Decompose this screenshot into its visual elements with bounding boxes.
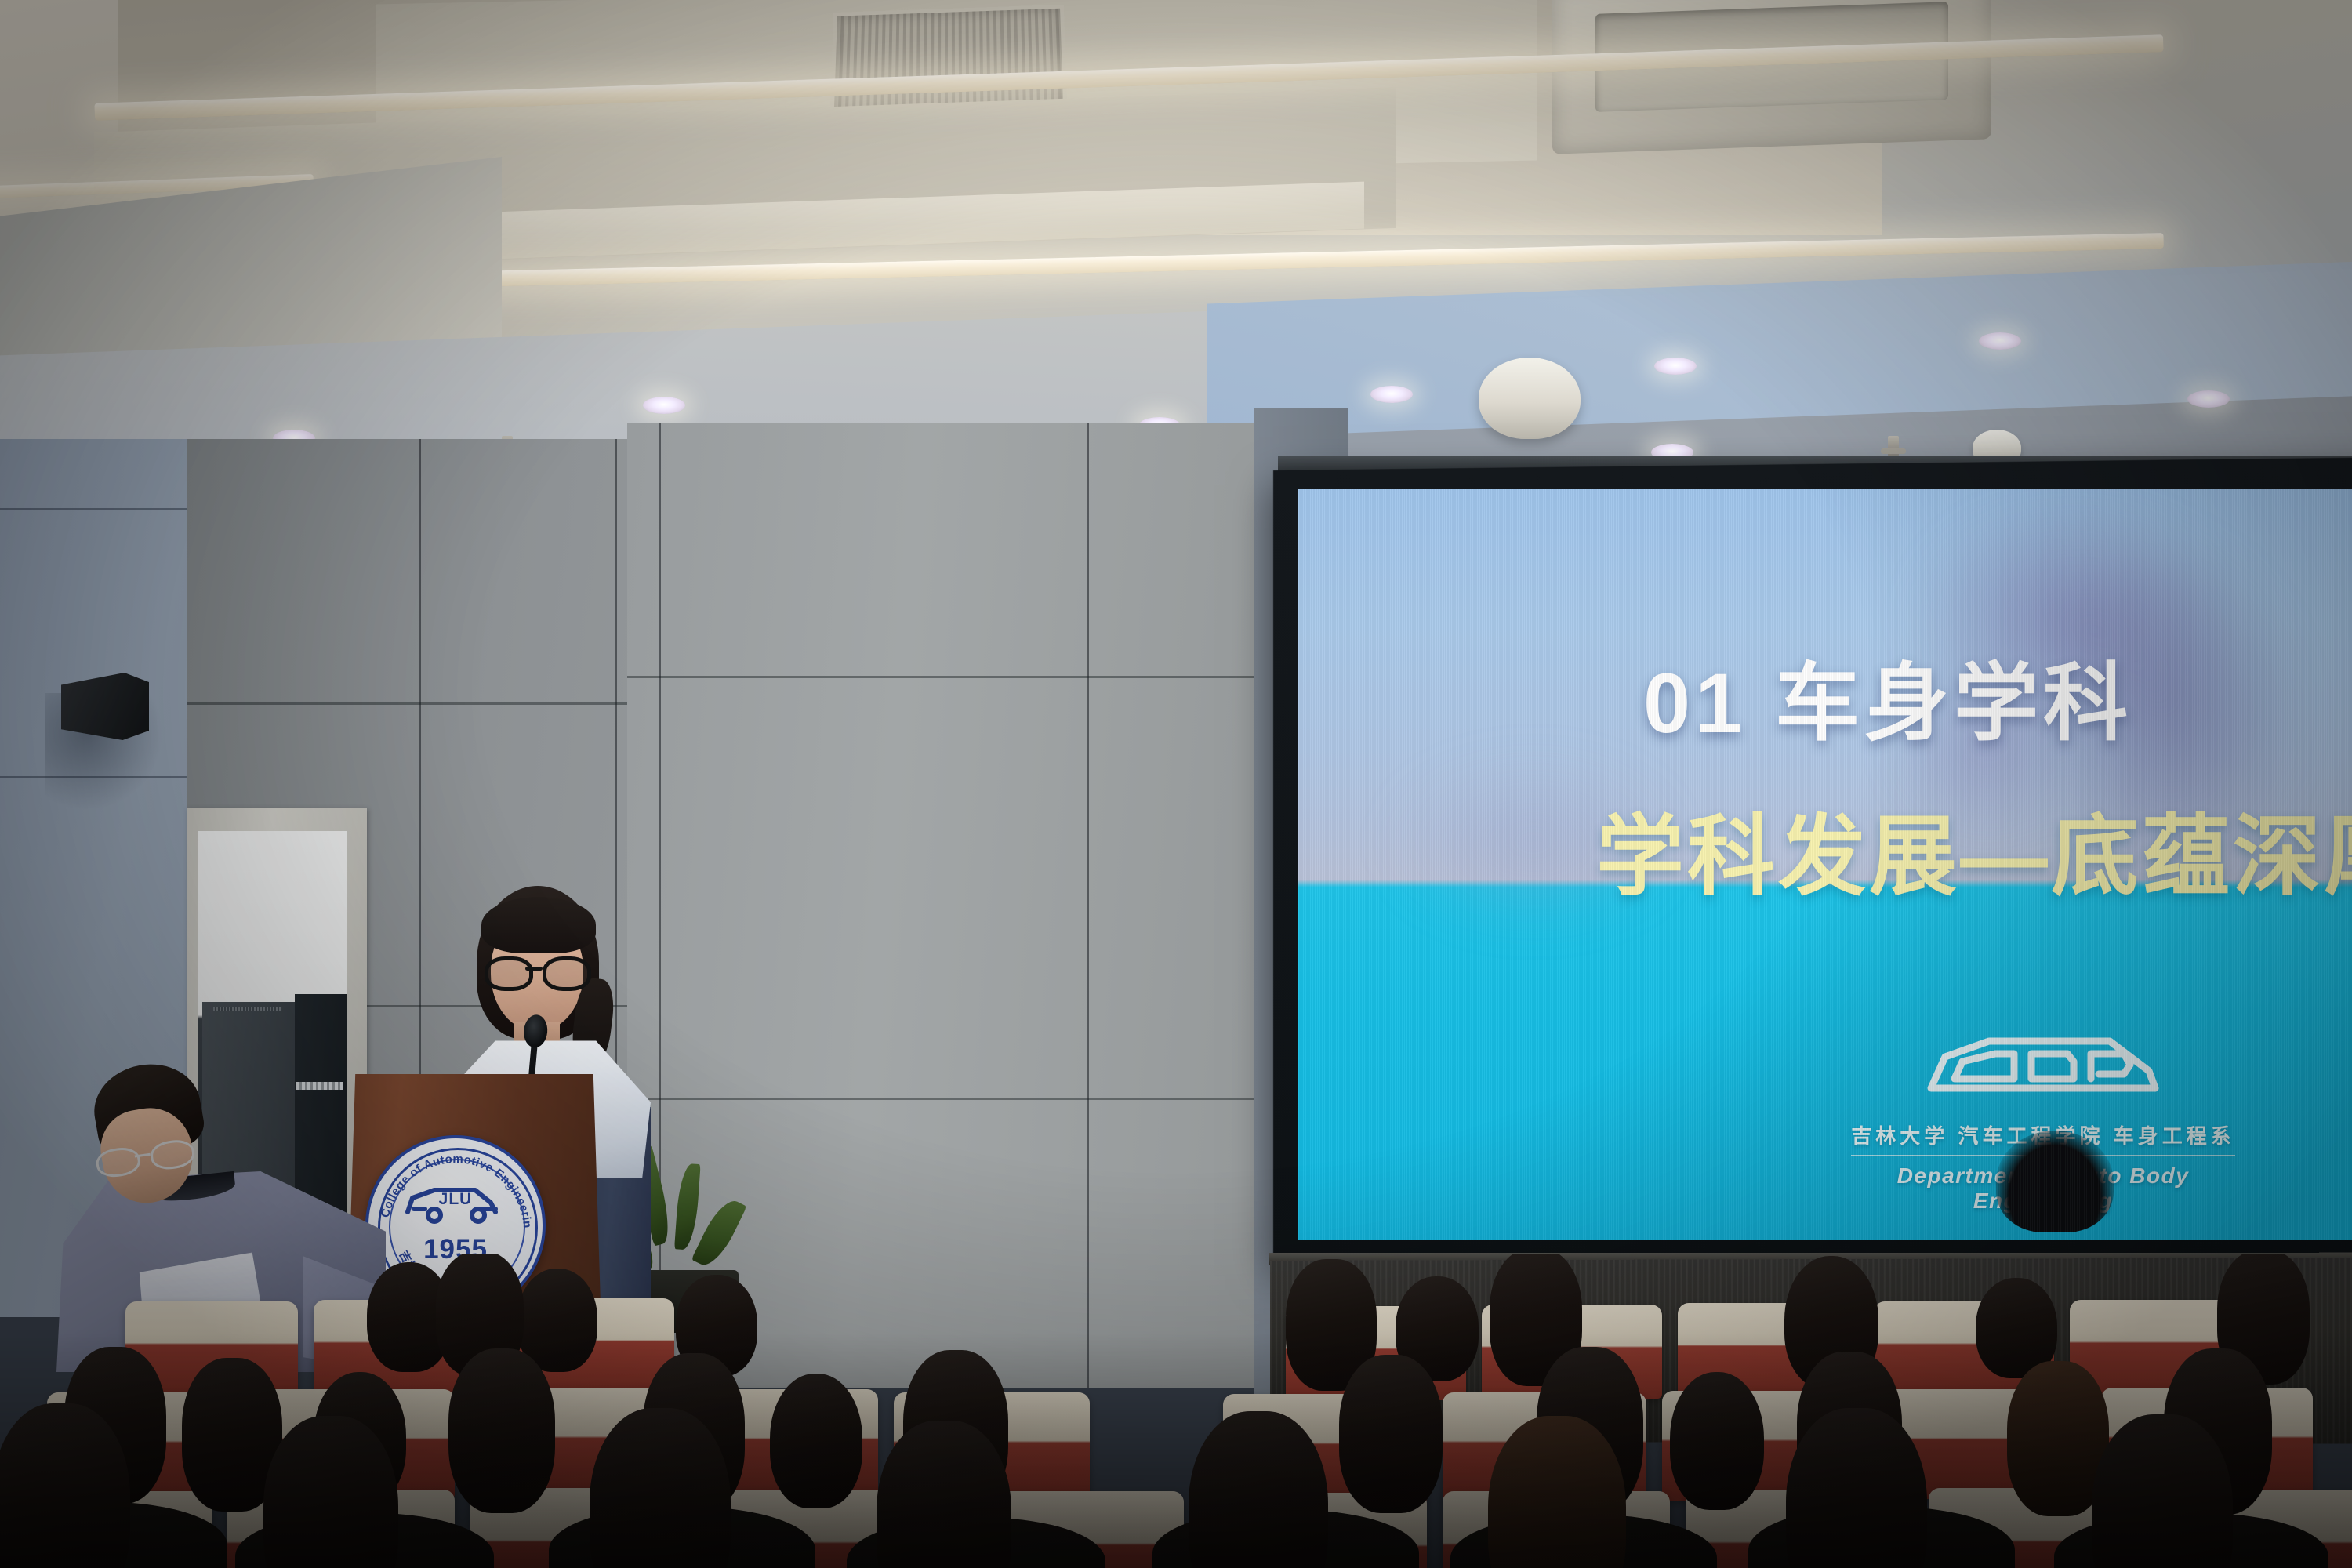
audience-head — [590, 1408, 731, 1568]
audience-head — [263, 1416, 398, 1568]
ceiling-ac-cassette-icon — [1552, 0, 1991, 154]
recessed-downlight-icon — [2187, 390, 2230, 408]
audience-head — [2092, 1414, 2233, 1568]
audience-head — [1786, 1408, 1927, 1568]
led-screen-display[interactable]: 01 车身学科 学科发展—底蕴深厚 吉林大学 汽车工程学院 车身工程系 Depa… — [1298, 489, 2352, 1240]
audience-head — [448, 1348, 555, 1513]
presenter-bangs — [481, 897, 596, 953]
audience-head-silhouette — [1996, 1131, 2114, 1232]
audience-seating — [0, 1254, 2352, 1568]
jlu-auto-body-logo-icon — [1914, 1030, 2172, 1105]
recessed-downlight-icon — [643, 397, 685, 414]
presenter-glasses-icon — [485, 956, 588, 983]
slide-title: 01 车身学科 — [1643, 635, 2132, 757]
audience-head — [1488, 1416, 1626, 1568]
audience-head — [0, 1403, 130, 1568]
department-logo-block: 吉林大学 汽车工程学院 车身工程系 Department of Auto Bod… — [1839, 1030, 2247, 1214]
audience-head — [1189, 1411, 1328, 1568]
audience-head — [1670, 1372, 1764, 1510]
audience-head — [877, 1421, 1011, 1568]
recessed-downlight-icon — [1979, 332, 2021, 350]
ceiling-dome-speaker-icon — [1479, 358, 1581, 439]
lecture-hall-photo: 01 车身学科 学科发展—底蕴深厚 吉林大学 汽车工程学院 车身工程系 Depa… — [0, 0, 2352, 1568]
audience-head — [1339, 1355, 1443, 1513]
recessed-downlight-icon — [1370, 386, 1413, 403]
slide-subtitle: 学科发展—底蕴深厚 — [1596, 786, 2352, 913]
recessed-downlight-icon — [1654, 358, 1697, 375]
wall-mounted-speaker-icon — [61, 673, 149, 740]
sprinkler-head-icon — [1888, 436, 1899, 456]
audience-head — [770, 1374, 862, 1508]
